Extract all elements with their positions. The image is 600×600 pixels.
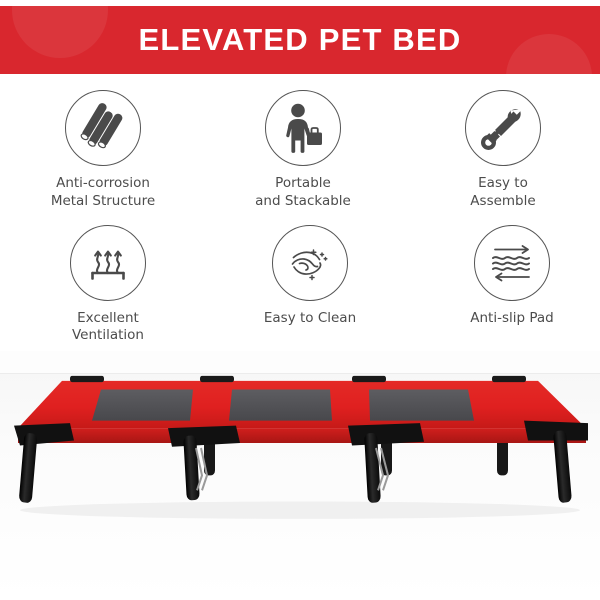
bed-front-skirt [18,428,586,443]
feature-excellent-ventilation: Excellent Ventilation [40,225,176,346]
feature-easy-to-assemble: Easy to Assemble [435,90,571,211]
wavy-lines-arrows-icon [474,225,550,301]
product-photo [0,351,600,600]
feature-label: Anti-corrosion Metal Structure [51,175,155,211]
banner-circle-decoration-right [506,34,592,74]
wrench-screwdriver-icon [465,90,541,166]
bed-folding-supports [196,448,388,490]
feature-label: Portable and Stackable [255,175,351,211]
feature-portable-and-stackable: Portable and Stackable [235,90,371,211]
wiping-hand-sparkle-icon [272,225,348,301]
feature-label: Easy to Clean [264,310,356,328]
feature-list: Anti-corrosion Metal Structure Porta [0,74,600,345]
airflow-arrows-icon [70,225,146,301]
feature-anti-slip-pad: Anti-slip Pad [444,225,580,328]
header-banner: ELEVATED PET BED [0,6,600,74]
feature-anti-corrosion-metal-structure: Anti-corrosion Metal Structure [35,90,171,211]
feature-row-2: Excellent Ventilation [0,225,600,346]
feature-label: Anti-slip Pad [470,310,553,328]
feature-label: Easy to Assemble [470,175,535,211]
bed-top-surface [18,376,586,428]
feature-easy-to-clean: Easy to Clean [242,225,378,328]
elevated-pet-bed-illustration [0,351,600,600]
feature-label: Excellent Ventilation [40,310,176,346]
metal-tubes-icon [65,90,141,166]
product-marketing-page: ELEVATED PET BED [0,0,600,600]
person-carrying-bag-icon [265,90,341,166]
feature-row-1: Anti-corrosion Metal Structure Porta [0,90,600,211]
page-title: ELEVATED PET BED [139,22,462,58]
banner-circle-decoration-left [12,6,108,58]
